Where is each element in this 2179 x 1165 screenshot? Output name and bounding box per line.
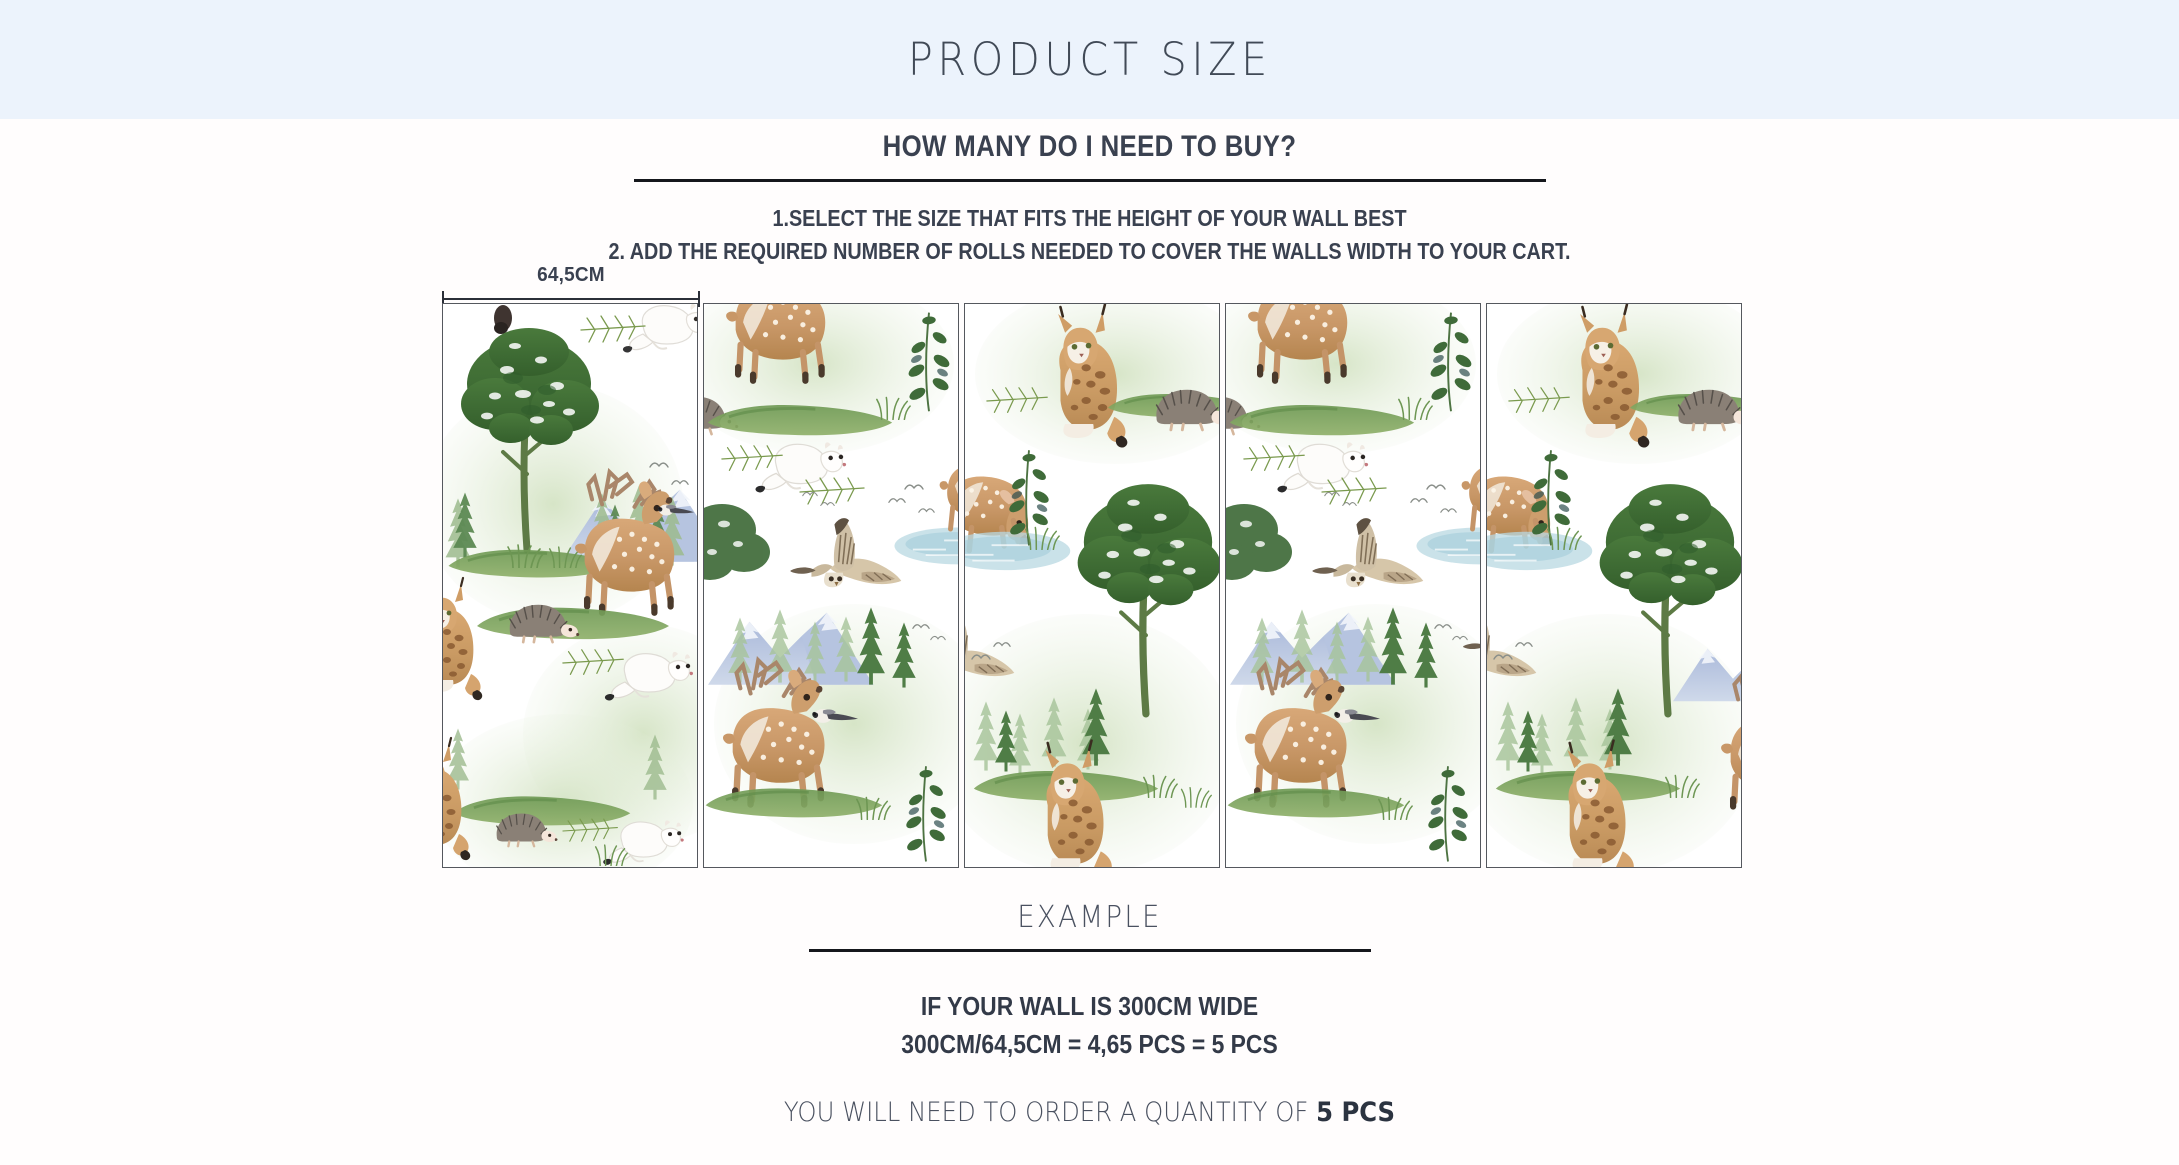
wallpaper-artwork-4 <box>1226 304 1480 867</box>
product-size-header: PRODUCT SIZE <box>0 0 2179 119</box>
instructions-heading: HOW MANY DO I NEED TO BUY? <box>153 130 2027 163</box>
dimension-line-icon <box>443 298 699 300</box>
example-calculation: IF YOUR WALL IS 300CM WIDE 300CM/64,5CM … <box>0 988 2179 1063</box>
product-preview-area: 64,5CM <box>442 270 1736 870</box>
example-conclusion-prefix: YOU WILL NEED TO ORDER A QUANTITY OF <box>784 1097 1316 1128</box>
example-divider <box>809 949 1371 952</box>
instruction-step-2: 2. ADD THE REQUIRED NUMBER OF ROLLS NEED… <box>153 235 2027 268</box>
wallpaper-panel-3[interactable] <box>964 303 1220 868</box>
wallpaper-artwork-1 <box>443 304 697 867</box>
wallpaper-artwork-3 <box>965 304 1219 867</box>
width-dimension: 64,5CM <box>442 270 700 304</box>
instructions-steps: 1.SELECT THE SIZE THAT FITS THE HEIGHT O… <box>0 202 2179 269</box>
page-title: PRODUCT SIZE <box>907 33 1271 86</box>
instructions-section: HOW MANY DO I NEED TO BUY? 1.SELECT THE … <box>0 130 2179 269</box>
instructions-divider <box>634 179 1546 182</box>
wallpaper-panel-4[interactable] <box>1225 303 1481 868</box>
wallpaper-panel-2[interactable] <box>703 303 959 868</box>
wallpaper-panel-5[interactable] <box>1486 303 1742 868</box>
wallpaper-artwork-5 <box>1487 304 1741 867</box>
example-conclusion-quantity: 5 PCS <box>1316 1097 1395 1128</box>
example-conclusion: YOU WILL NEED TO ORDER A QUANTITY OF 5 P… <box>109 1097 2070 1128</box>
wallpaper-panel-1[interactable] <box>442 303 698 868</box>
width-dimension-label: 64,5CM <box>448 264 693 287</box>
wallpaper-roll-strip <box>442 303 1742 868</box>
wallpaper-artwork-2 <box>704 304 958 867</box>
example-section: EXAMPLE IF YOUR WALL IS 300CM WIDE 300CM… <box>0 900 2179 1128</box>
example-title: EXAMPLE <box>87 900 2092 935</box>
example-formula: 300CM/64,5CM = 4,65 PCS = 5 PCS <box>131 1026 2049 1064</box>
instruction-step-1: 1.SELECT THE SIZE THAT FITS THE HEIGHT O… <box>153 202 2027 235</box>
example-wall-width: IF YOUR WALL IS 300CM WIDE <box>131 988 2049 1026</box>
